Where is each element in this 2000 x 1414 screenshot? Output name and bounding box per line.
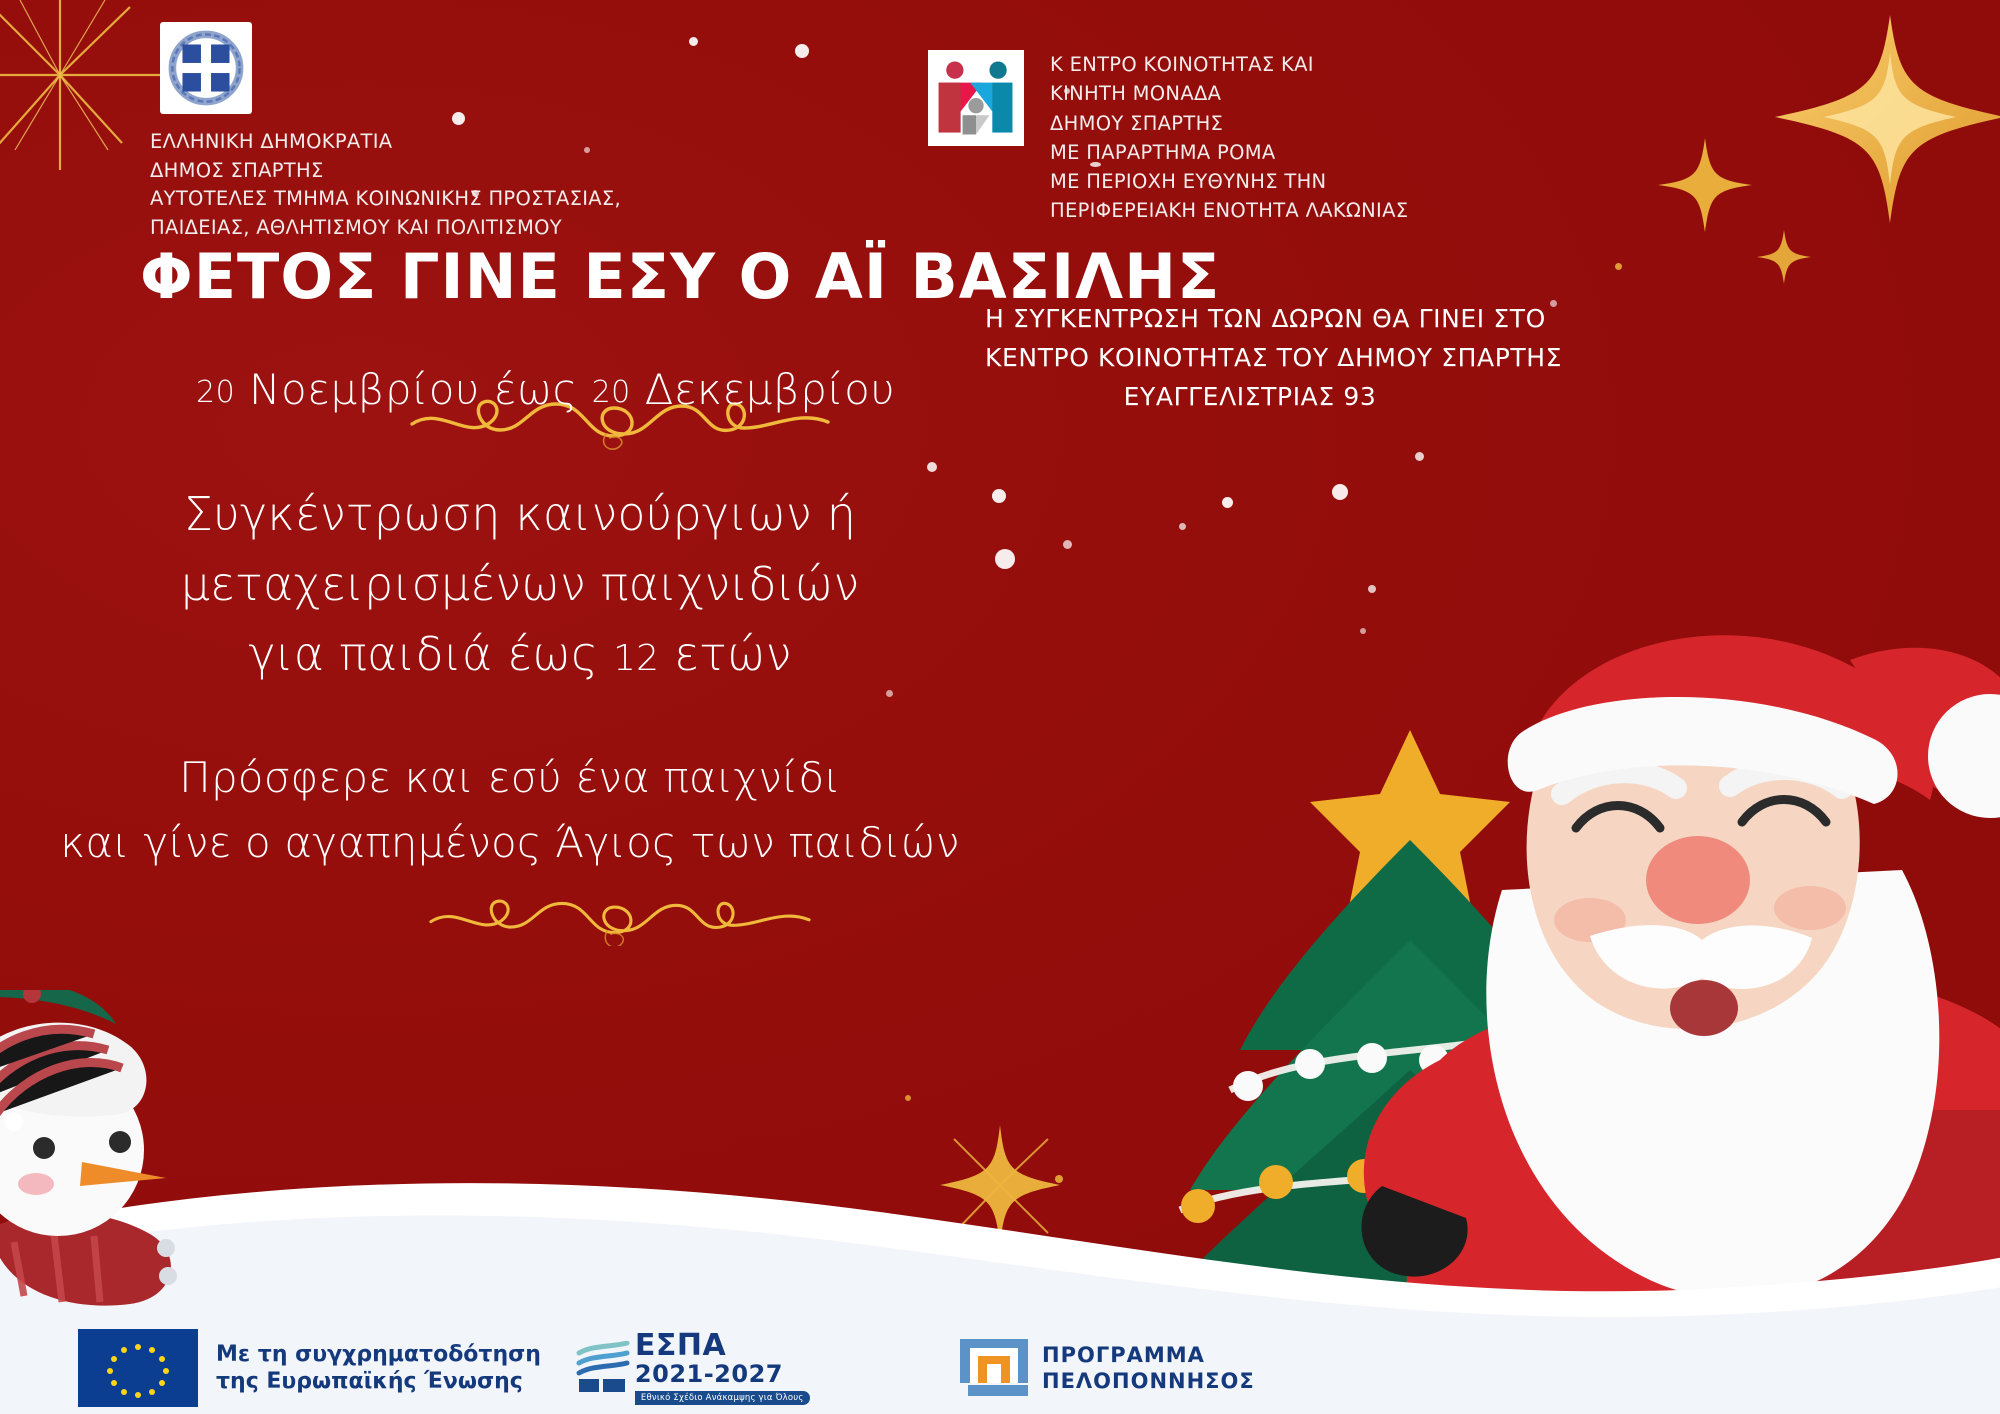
- footer-logos: Με τη συγχρηματοδότηση της Ευρωπαϊκής Έν…: [0, 1322, 2000, 1414]
- peloponnese-line-1: ΠΡΟΓΡΑΜΜΑ: [1042, 1342, 1255, 1368]
- greek-coat-of-arms-icon: [160, 22, 252, 114]
- body-line-1: Συγκέντρωση καινούργιων ή: [160, 480, 880, 550]
- eu-text-line-2: της Ευρωπαϊκής Ένωσης: [216, 1368, 541, 1396]
- header-left: ΕΛΛΗΝΙΚΗ ΔΗΜΟΚΡΑΤΙΑ ΔΗΜΟΣ ΣΠΑΡΤΗΣ ΑΥΤΟΤΕ…: [150, 22, 790, 243]
- header-right-lines: Κ ΕΝΤΡΟ ΚΟΙΝΟΤΗΤΑΣ ΚΑΙ ΚΙΝΗΤΗ ΜΟΝΑΔΑ ΔΗΜ…: [1050, 50, 1408, 226]
- header-right-line-6: ΠΕΡΙΦΕΡΕΙΑΚΗ ΕΝΟΤΗΤΑ ΛΑΚΩΝΙΑΣ: [1050, 196, 1408, 225]
- poster-canvas: ΕΛΛΗΝΙΚΗ ΔΗΜΟΚΡΑΤΙΑ ΔΗΜΟΣ ΣΠΑΡΤΗΣ ΑΥΤΟΤΕ…: [0, 0, 2000, 1414]
- starburst-icon-tiny-right: [1752, 225, 1816, 289]
- eu-cofinancing-text: Με τη συγχρηματοδότηση της Ευρωπαϊκής Έν…: [216, 1341, 541, 1396]
- address-line-3: ΕΥΑΓΓΕΛΙΣΤΡΙΑΣ 93: [985, 378, 1515, 417]
- peloponnese-program-logo: ΠΡΟΓΡΑΜΜΑ ΠΕΛΟΠΟΝΝΗΣΟΣ: [960, 1339, 1255, 1397]
- body-text: Συγκέντρωση καινούργιων ή μεταχειρισμένω…: [160, 480, 880, 690]
- community-center-logo-icon: [928, 50, 1024, 146]
- starburst-icon-topright: [1760, 5, 2000, 235]
- header-left-line-1: ΕΛΛΗΝΙΚΗ ΔΗΜΟΚΡΑΤΙΑ: [150, 128, 790, 157]
- body-line-3-a: για παιδιά έως: [248, 627, 598, 681]
- closing-message: Πρόσφερε και εσύ ένα παιχνίδι και γίνε ο…: [60, 745, 960, 875]
- header-left-line-3: ΑΥΤΟΤΕΛΕΣ ΤΜΗΜΑ ΚΟΙΝΩΝΙΚΗΣ ΠΡΟΣΤΑΣΙΑΣ,: [150, 185, 790, 214]
- snowman-illustration: [0, 990, 300, 1320]
- body-age-limit: 12: [613, 638, 659, 679]
- european-union-flag-icon: [78, 1329, 198, 1407]
- espa-tagline: Εθνικό Σχέδιο Ανάκαμψης για Όλους: [635, 1391, 810, 1405]
- header-left-lines: ΕΛΛΗΝΙΚΗ ΔΗΜΟΚΡΑΤΙΑ ΔΗΜΟΣ ΣΠΑΡΤΗΣ ΑΥΤΟΤΕ…: [150, 128, 790, 243]
- header-right-line-1: Κ ΕΝΤΡΟ ΚΟΙΝΟΤΗΤΑΣ ΚΑΙ: [1050, 50, 1408, 79]
- date-from-day: 20: [196, 375, 235, 410]
- header-right: Κ ΕΝΤΡΟ ΚΟΙΝΟΤΗΤΑΣ ΚΑΙ ΚΙΝΗΤΗ ΜΟΝΑΔΑ ΔΗΜ…: [928, 50, 1408, 226]
- body-line-2: μεταχειρισμένων παιχνιδιών: [160, 550, 880, 620]
- closing-line-1: Πρόσφερε και εσύ ένα παιχνίδι: [60, 745, 960, 810]
- header-left-line-4: ΠΑΙΔΕΙΑΣ, ΑΘΛΗΤΙΣΜΟΥ ΚΑΙ ΠΟΛΙΤΙΣΜΟΥ: [150, 214, 790, 243]
- date-from-month: Νοεμβρίου: [249, 365, 480, 414]
- date-connector: έως: [494, 365, 578, 414]
- espa-waves-icon: [575, 1341, 631, 1395]
- date-to-month: Δεκεμβρίου: [645, 365, 896, 414]
- dropoff-address: Η ΣΥΓΚΕΝΤΡΩΣΗ ΤΩΝ ΔΩΡΩΝ ΘΑ ΓΙΝΕΙ ΣΤΟ ΚΕΝ…: [985, 300, 1515, 416]
- date-to-day: 20: [592, 375, 631, 410]
- peloponnese-mark-icon: [960, 1339, 1028, 1397]
- espa-years: 2021-2027: [635, 1361, 810, 1389]
- eu-text-line-1: Με τη συγχρηματοδότηση: [216, 1341, 541, 1369]
- body-line-3: για παιδιά έως 12 ετών: [160, 620, 880, 690]
- closing-line-2: και γίνε ο αγαπημένος Άγιος των παιδιών: [60, 810, 960, 875]
- gold-flourish-bottom: [420, 890, 820, 946]
- header-right-line-4: ΜΕ ΠΑΡΑΡΤΗΜΑ ΡΟΜΑ: [1050, 138, 1408, 167]
- address-line-2: ΚΕΝΤΡΟ ΚΟΙΝΟΤΗΤΑΣ ΤΟΥ ΔΗΜΟΥ ΣΠΑΡΤΗΣ: [985, 339, 1515, 378]
- header-left-line-2: ΔΗΜΟΣ ΣΠΑΡΤΗΣ: [150, 157, 790, 186]
- peloponnese-line-2: ΠΕΛΟΠΟΝΝΗΣΟΣ: [1042, 1368, 1255, 1394]
- espa-logo: ΕΣΠΑ 2021-2027 Εθνικό Σχέδιο Ανάκαμψης γ…: [575, 1331, 810, 1405]
- starburst-icon-small-right: [1650, 130, 1760, 240]
- header-right-line-3: ΔΗΜΟΥ ΣΠΑΡΤΗΣ: [1050, 109, 1408, 138]
- header-right-line-2: ΚΙΝΗΤΗ ΜΟΝΑΔΑ: [1050, 79, 1408, 108]
- espa-title: ΕΣΠΑ: [635, 1331, 810, 1361]
- header-right-line-5: ΜΕ ΠΕΡΙΟΧΗ ΕΥΘΥΝΗΣ ΤΗΝ: [1050, 167, 1408, 196]
- address-line-1: Η ΣΥΓΚΕΝΤΡΩΣΗ ΤΩΝ ΔΩΡΩΝ ΘΑ ΓΙΝΕΙ ΣΤΟ: [985, 300, 1515, 339]
- body-line-3-b: ετών: [674, 627, 792, 681]
- event-dates: 20 Νοεμβρίου έως 20 Δεκεμβρίου: [196, 365, 895, 414]
